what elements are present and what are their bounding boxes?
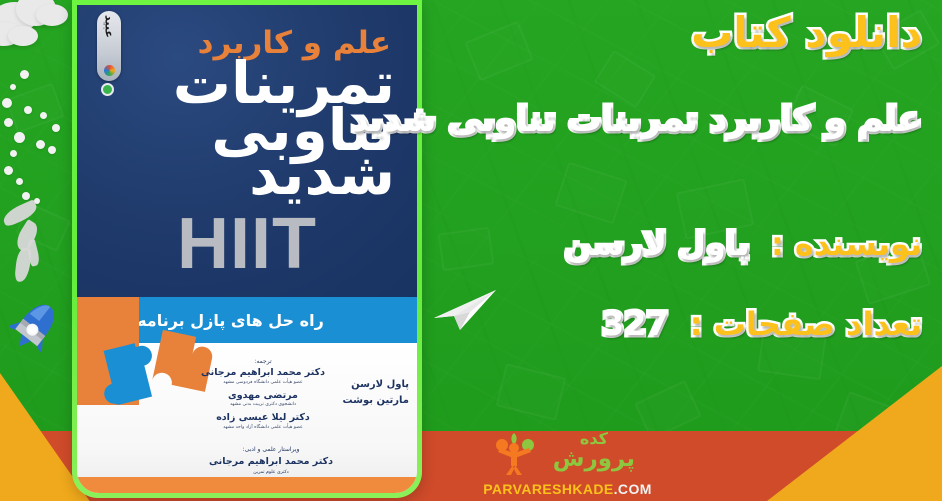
translator-2-name: مرتضی مهدوی [201,389,325,403]
original-author-1: پاول لارسن [343,377,409,393]
book-cover-card[interactable]: عبید علم و کاربرد تمرینات تناوبی شدید HI… [72,0,422,498]
editor-name: دکتر محمد ابراهیم مرجانی [209,455,333,469]
original-author-2: مارتین بوشت [343,393,409,409]
translator-role: ترجمه: [201,357,325,366]
person-figure-icon [488,429,540,475]
paper-plane-icon [430,278,500,334]
author-label: نویسنده : [771,225,922,263]
logo-domain-tld: .COM [614,481,652,497]
cover-editor-block: ویراستار علمی و ادبی: دکتر محمد ابراهیم … [209,445,333,476]
book-cover-inner: عبید علم و کاربرد تمرینات تناوبی شدید HI… [77,5,417,493]
right-text-column: دانلود کتاب علم و کاربرد تمرینات تناوبی … [430,0,942,501]
pages-label: تعداد صفحات : [690,305,922,343]
publisher-glyph: عبید [104,15,115,38]
translator-1-name: دکتر محمد ابراهیم مرجانی [201,366,325,380]
cover-original-authors: پاول لارسن مارتین بوشت [343,377,409,408]
cover-title-line-3: شدید [173,148,395,201]
logo-persian-words: کده پرورش [553,431,635,471]
pages-count: 327 [602,305,669,343]
logo-row: کده پرورش [470,431,665,476]
translator-3-name: دکتر لیلا عیسی زاده [201,411,325,425]
author-name: پاول لارسن [564,225,749,263]
cover-credits: ترجمه: دکتر محمد ابراهیم مرجانی عضو هیأت… [201,357,325,434]
logo-word-top: کده [553,431,635,447]
pages-line: تعداد صفحات : 327 [602,305,922,343]
author-line: نویسنده : پاول لارسن [564,225,922,263]
editor-affiliation: دکتری علوم تمرین [209,469,333,476]
download-heading: دانلود کتاب [691,8,922,57]
translator-3-affiliation: عضو هیأت علمی دانشگاه آزاد واحد مشهد [201,425,325,432]
left-decoration-panel [0,0,80,501]
site-logo[interactable]: کده پرورش PARVARESHKADE.COM [470,431,665,497]
book-cover-border: عبید علم و کاربرد تمرینات تناوبی شدید HI… [72,0,422,498]
logo-domain: PARVARESHKADE.COM [470,481,665,497]
cover-bottom-orange-strip [77,477,417,493]
editor-role: ویراستار علمی و ادبی: [209,445,333,455]
translator-1-affiliation: عضو هیأت علمی دانشگاه فردوسی مشهد [201,380,325,387]
publisher-green-dot-icon [101,83,114,96]
rocket-icon [10,300,66,358]
logo-domain-name: PARVARESHKADE [483,481,613,497]
publisher-logo-icon: عبید [97,11,121,81]
book-title-heading: علم و کاربرد تمرینات تناوبی شدید [351,100,922,140]
cover-acronym: HIIT [77,203,417,285]
logo-word-bottom: پرورش [553,448,635,471]
book-promo-banner: عبید علم و کاربرد تمرینات تناوبی شدید HI… [0,0,942,501]
publisher-color-dot [104,65,115,76]
translator-2-affiliation: دانشجوی دکتری تربیت بدنی مشهد [201,402,325,409]
